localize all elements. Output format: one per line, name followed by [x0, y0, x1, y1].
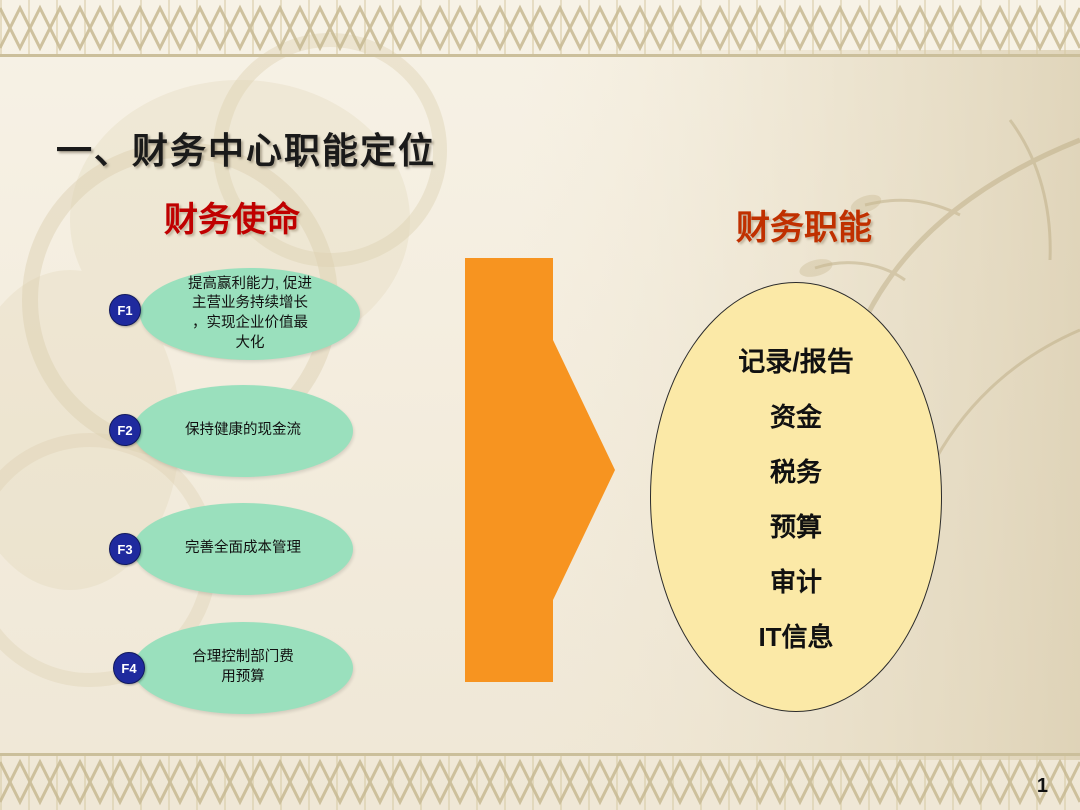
- mission-badge-f2: F2: [109, 414, 141, 446]
- bottom-band-line: [0, 753, 1080, 756]
- mission-item-3-label: 完善全面成本管理: [163, 539, 323, 559]
- functions-ellipse[interactable]: 记录/报告 资金 税务 预算 审计 IT信息: [650, 282, 942, 712]
- function-item-3: 税务: [770, 452, 822, 489]
- right-column-heading: 财务职能: [736, 200, 872, 249]
- slide: 一、财务中心职能定位 财务使命 财务职能 提高赢利能力, 促进 主营业务持续增长…: [0, 0, 1080, 810]
- page-number: 1: [1037, 775, 1048, 798]
- mission-item-1[interactable]: 提高赢利能力, 促进 主营业务持续增长 ，实现企业价值最 大化: [140, 268, 360, 360]
- function-item-6: IT信息: [758, 617, 833, 654]
- right-arrow-icon: [465, 258, 615, 682]
- mission-item-4[interactable]: 合理控制部门费 用预算: [133, 622, 353, 714]
- function-item-4: 预算: [770, 507, 822, 544]
- top-ornament-band: [0, 0, 1080, 56]
- function-item-2: 资金: [770, 397, 822, 434]
- function-item-5: 审计: [770, 562, 822, 599]
- page-title: 一、财务中心职能定位: [56, 122, 436, 174]
- left-column-heading: 财务使命: [164, 192, 300, 241]
- mission-item-3[interactable]: 完善全面成本管理: [133, 503, 353, 595]
- mission-item-1-label: 提高赢利能力, 促进 主营业务持续增长 ，实现企业价值最 大化: [166, 275, 334, 353]
- function-item-1: 记录/报告: [738, 340, 854, 379]
- mission-badge-f3: F3: [109, 533, 141, 565]
- mission-item-4-label: 合理控制部门费 用预算: [170, 648, 316, 687]
- mission-item-2[interactable]: 保持健康的现金流: [133, 385, 353, 477]
- mission-badge-f4: F4: [113, 652, 145, 684]
- mission-badge-f1: F1: [109, 294, 141, 326]
- bottom-ornament-band: [0, 754, 1080, 810]
- mission-item-2-label: 保持健康的现金流: [163, 421, 323, 441]
- top-band-line: [0, 54, 1080, 57]
